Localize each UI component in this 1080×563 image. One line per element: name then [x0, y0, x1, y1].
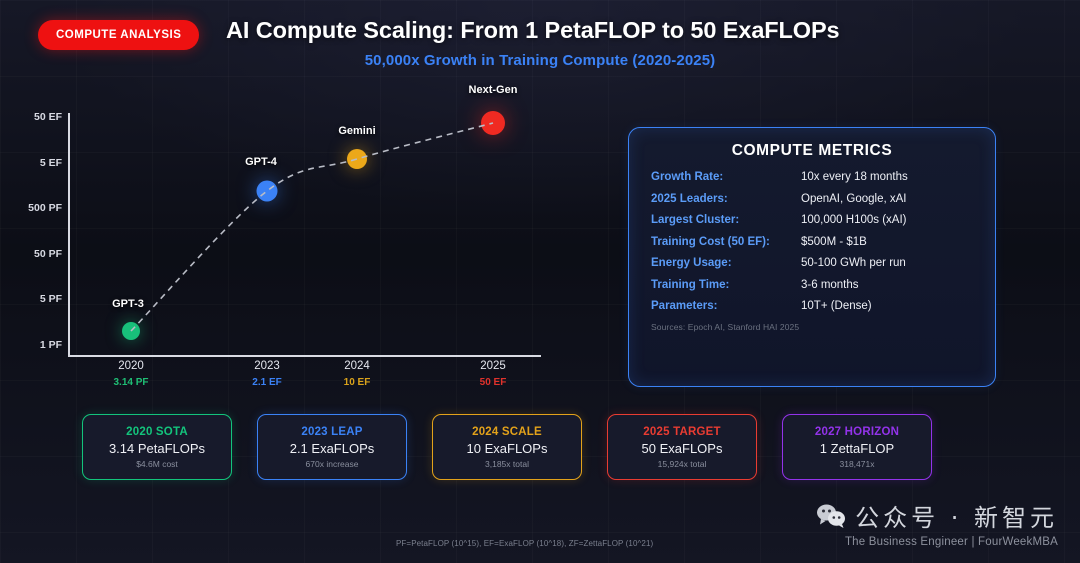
y-axis-tick: 500 PF [2, 202, 62, 214]
page-title: AI Compute Scaling: From 1 PetaFLOP to 5… [226, 17, 840, 44]
card-value: 50 ExaFLOPs [642, 441, 723, 456]
card-subtext: 670x increase [306, 459, 359, 469]
watermark: 公众号 · 新智元 The Business Engineer | FourWe… [816, 498, 1058, 548]
metric-label: Training Time: [651, 279, 801, 291]
data-point-next-gen[interactable] [481, 111, 505, 135]
x-tick-year: 2025 [480, 360, 507, 372]
x-axis-tick: 20203.14 PF [113, 360, 148, 388]
data-point-gpt-3[interactable] [122, 322, 140, 340]
infographic-root: COMPUTE ANALYSIS AI Compute Scaling: Fro… [0, 0, 1080, 563]
metric-value: OpenAI, Google, xAI [801, 193, 906, 205]
metric-value: 10T+ (Dense) [801, 300, 872, 312]
metric-label: Parameters: [651, 300, 801, 312]
x-tick-year: 2020 [113, 360, 148, 372]
y-axis-tick: 50 EF [2, 111, 62, 123]
x-tick-year: 2023 [252, 360, 281, 372]
card-value: 3.14 PetaFLOPs [109, 441, 205, 456]
milestone-card[interactable]: 2025 TARGET50 ExaFLOPs15,924x total [607, 414, 757, 480]
metric-value: 10x every 18 months [801, 171, 908, 183]
card-title: 2023 LEAP [301, 426, 362, 438]
card-title: 2020 SOTA [126, 426, 188, 438]
metric-value: 3-6 months [801, 279, 859, 291]
metric-value: 50-100 GWh per run [801, 257, 906, 269]
card-title: 2025 TARGET [643, 426, 720, 438]
card-subtext: 318,471x [840, 459, 875, 469]
metric-label: Growth Rate: [651, 171, 801, 183]
metrics-title: COMPUTE METRICS [651, 142, 973, 160]
metric-row: Parameters:10T+ (Dense) [651, 300, 973, 312]
wechat-icon [816, 503, 846, 528]
metrics-sources: Sources: Epoch AI, Stanford HAI 2025 [651, 322, 973, 332]
card-value: 2.1 ExaFLOPs [290, 441, 375, 456]
x-tick-value: 50 EF [480, 377, 507, 388]
x-tick-value: 3.14 PF [113, 377, 148, 388]
metric-row: Energy Usage:50-100 GWh per run [651, 257, 973, 269]
card-subtext: $4.6M cost [136, 459, 178, 469]
watermark-top: 公众号 · 新智元 [816, 498, 1058, 533]
milestone-card[interactable]: 2020 SOTA3.14 PetaFLOPs$4.6M cost [82, 414, 232, 480]
data-point-label: Next-Gen [469, 84, 518, 96]
milestone-card[interactable]: 2024 SCALE10 ExaFLOPs3,185x total [432, 414, 582, 480]
data-point-gemini[interactable] [347, 149, 367, 169]
milestone-card[interactable]: 2027 HORIZON1 ZettaFLOP318,471x [782, 414, 932, 480]
y-axis-tick: 5 EF [2, 157, 62, 169]
x-axis-tick: 202550 EF [480, 360, 507, 388]
x-axis-line [68, 355, 541, 357]
metric-label: Training Cost (50 EF): [651, 236, 801, 248]
metric-label: Energy Usage: [651, 257, 801, 269]
x-tick-value: 10 EF [344, 377, 371, 388]
x-axis-tick: 202410 EF [344, 360, 371, 388]
data-point-label: GPT-4 [245, 156, 277, 168]
card-subtext: 3,185x total [485, 459, 529, 469]
metric-value: 100,000 H100s (xAI) [801, 214, 906, 226]
compute-metrics-panel: COMPUTE METRICS Growth Rate:10x every 18… [628, 127, 996, 387]
metric-value: $500M - $1B [801, 236, 867, 248]
watermark-chinese: 公众号 · 新智元 [855, 498, 1058, 533]
y-axis-line [68, 113, 70, 357]
y-axis-tick: 5 PF [2, 293, 62, 305]
data-point-label: Gemini [338, 125, 375, 137]
metrics-rows: Growth Rate:10x every 18 months2025 Lead… [651, 171, 973, 312]
x-tick-value: 2.1 EF [252, 377, 281, 388]
metric-label: 2025 Leaders: [651, 193, 801, 205]
metric-row: 2025 Leaders:OpenAI, Google, xAI [651, 193, 973, 205]
card-subtext: 15,924x total [658, 459, 707, 469]
milestone-card[interactable]: 2023 LEAP2.1 ExaFLOPs670x increase [257, 414, 407, 480]
card-value: 10 ExaFLOPs [467, 441, 548, 456]
y-axis-tick: 50 PF [2, 248, 62, 260]
compute-analysis-badge: COMPUTE ANALYSIS [38, 20, 199, 50]
data-point-gpt-4[interactable] [257, 181, 278, 202]
x-tick-year: 2024 [344, 360, 371, 372]
card-value: 1 ZettaFLOP [820, 441, 894, 456]
y-axis-tick: 1 PF [2, 339, 62, 351]
metric-row: Training Cost (50 EF):$500M - $1B [651, 236, 973, 248]
milestone-cards: 2020 SOTA3.14 PetaFLOPs$4.6M cost2023 LE… [82, 414, 998, 480]
metric-row: Training Time:3-6 months [651, 279, 973, 291]
page-subtitle: 50,000x Growth in Training Compute (2020… [0, 52, 1080, 69]
watermark-attribution: The Business Engineer | FourWeekMBA [816, 536, 1058, 548]
x-axis-tick: 20232.1 EF [252, 360, 281, 388]
data-point-label: GPT-3 [112, 298, 144, 310]
metric-row: Largest Cluster:100,000 H100s (xAI) [651, 214, 973, 226]
card-title: 2024 SCALE [472, 426, 542, 438]
unit-footnote: PF=PetaFLOP (10^15), EF=ExaFLOP (10^18),… [396, 539, 653, 548]
card-title: 2027 HORIZON [815, 426, 899, 438]
metric-label: Largest Cluster: [651, 214, 801, 226]
metric-row: Growth Rate:10x every 18 months [651, 171, 973, 183]
